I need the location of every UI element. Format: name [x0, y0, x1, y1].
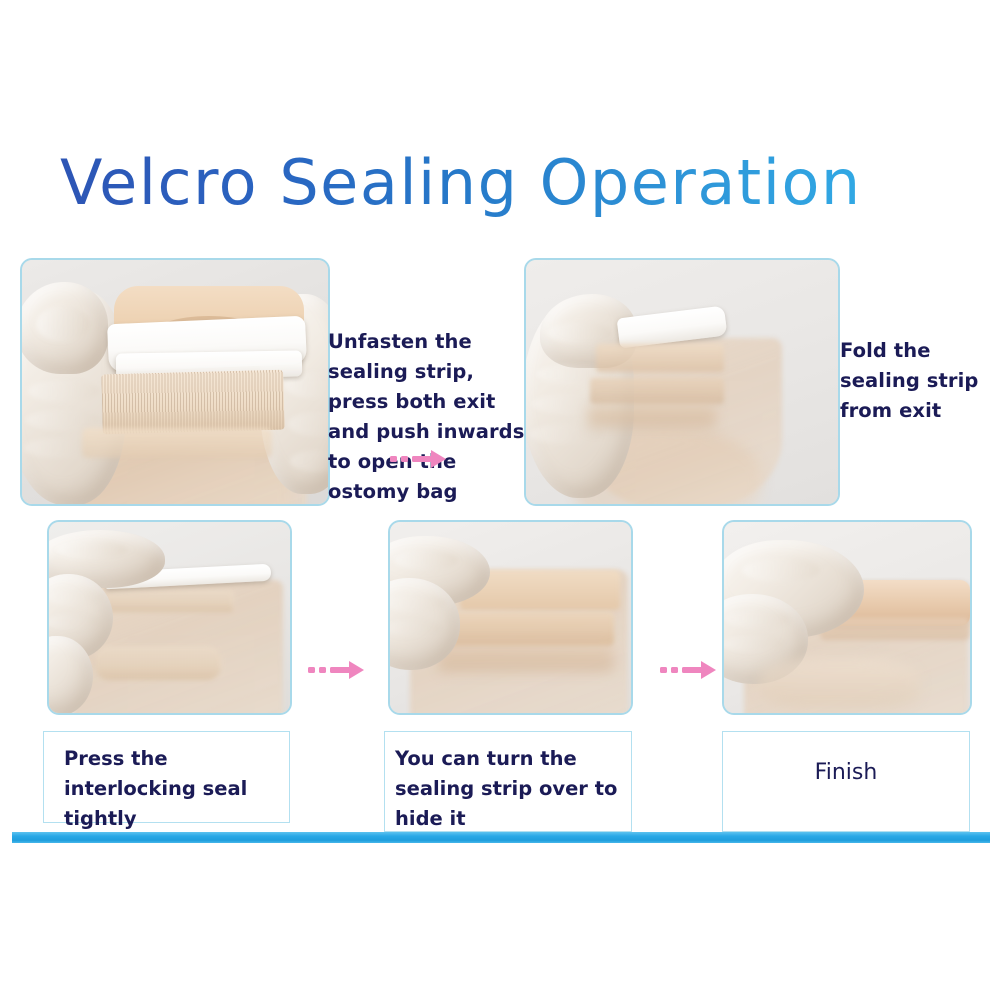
step-3-caption-box: Press the interlocking seal tightly: [43, 731, 290, 823]
step-5-photo: [722, 520, 972, 715]
step-3-photo: [47, 520, 292, 715]
next-step-arrow-2: [308, 657, 368, 683]
step-5-caption: Finish: [723, 758, 969, 788]
next-step-arrow-1: [390, 446, 450, 472]
next-step-arrow-3: [660, 657, 720, 683]
step-1-caption: Unfasten the sealing strip, press both e…: [328, 327, 526, 507]
step-1-photo: [20, 258, 330, 506]
step-4-caption-box: You can turn the sealing strip over to h…: [384, 731, 632, 832]
bottom-divider: [12, 832, 990, 843]
step-4-caption: You can turn the sealing strip over to h…: [395, 744, 631, 834]
step-5-caption-box: Finish: [722, 731, 970, 832]
infographic-canvas: Velcro Sealing Operation: [0, 0, 1000, 1000]
step-3-caption: Press the interlocking seal tightly: [64, 744, 279, 834]
step-2-caption: Fold the sealing strip from exit: [840, 336, 1000, 426]
page-title: Velcro Sealing Operation: [60, 143, 950, 223]
step-4-photo: [388, 520, 633, 715]
step-2-photo: [524, 258, 840, 506]
